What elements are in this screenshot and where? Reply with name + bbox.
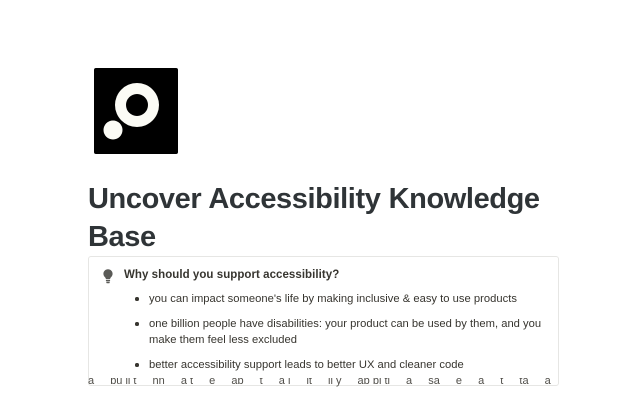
clipped-fragment: a <box>478 378 484 387</box>
clipped-fragment: a i <box>279 378 291 387</box>
callout-block[interactable]: Why should you support accessibility? yo… <box>88 256 559 386</box>
callout-header: Why should you support accessibility? <box>101 267 544 285</box>
clipped-fragment: bu ll t <box>110 378 136 387</box>
list-item: better accessibility support leads to be… <box>101 357 544 373</box>
clipped-fragment: e <box>456 378 462 387</box>
clipped-fragment: a <box>88 378 94 387</box>
clipped-fragment: a <box>406 378 412 387</box>
clipped-fragment: t <box>260 378 263 387</box>
clipped-fragment: ab bi tl <box>358 378 390 387</box>
clipped-fragment: it <box>306 378 312 387</box>
clipped-fragment: li y <box>328 378 341 387</box>
clipped-fragment: a <box>545 378 551 387</box>
clipped-fragment: ta <box>519 378 528 387</box>
clipped-fragment: e <box>209 378 215 387</box>
callout-heading: Why should you support accessibility? <box>124 267 339 284</box>
page-title: Uncover Accessibility Knowledge Base <box>88 180 558 256</box>
lightbulb-icon <box>101 268 115 285</box>
clipped-text-row: a bu ll t hn a t e ab t a i it li y ab b… <box>88 378 608 389</box>
clipped-fragment: a t <box>181 378 193 387</box>
callout-bullet-list: you can impact someone's life by making … <box>101 291 544 373</box>
clipped-fragment: ab <box>231 378 243 387</box>
uncover-logo-icon <box>94 68 178 154</box>
clipped-fragment: sa <box>428 378 440 387</box>
clipped-content-strip: a bu ll t hn a t e ab t a i it li y ab b… <box>0 378 640 391</box>
list-item: one billion people have disabilities: yo… <box>101 316 544 348</box>
page-root: Uncover Accessibility Knowledge Base Why… <box>0 0 640 400</box>
clipped-fragment: t <box>500 378 503 387</box>
list-item: you can impact someone's life by making … <box>101 291 544 307</box>
clipped-fragment: hn <box>153 378 165 387</box>
